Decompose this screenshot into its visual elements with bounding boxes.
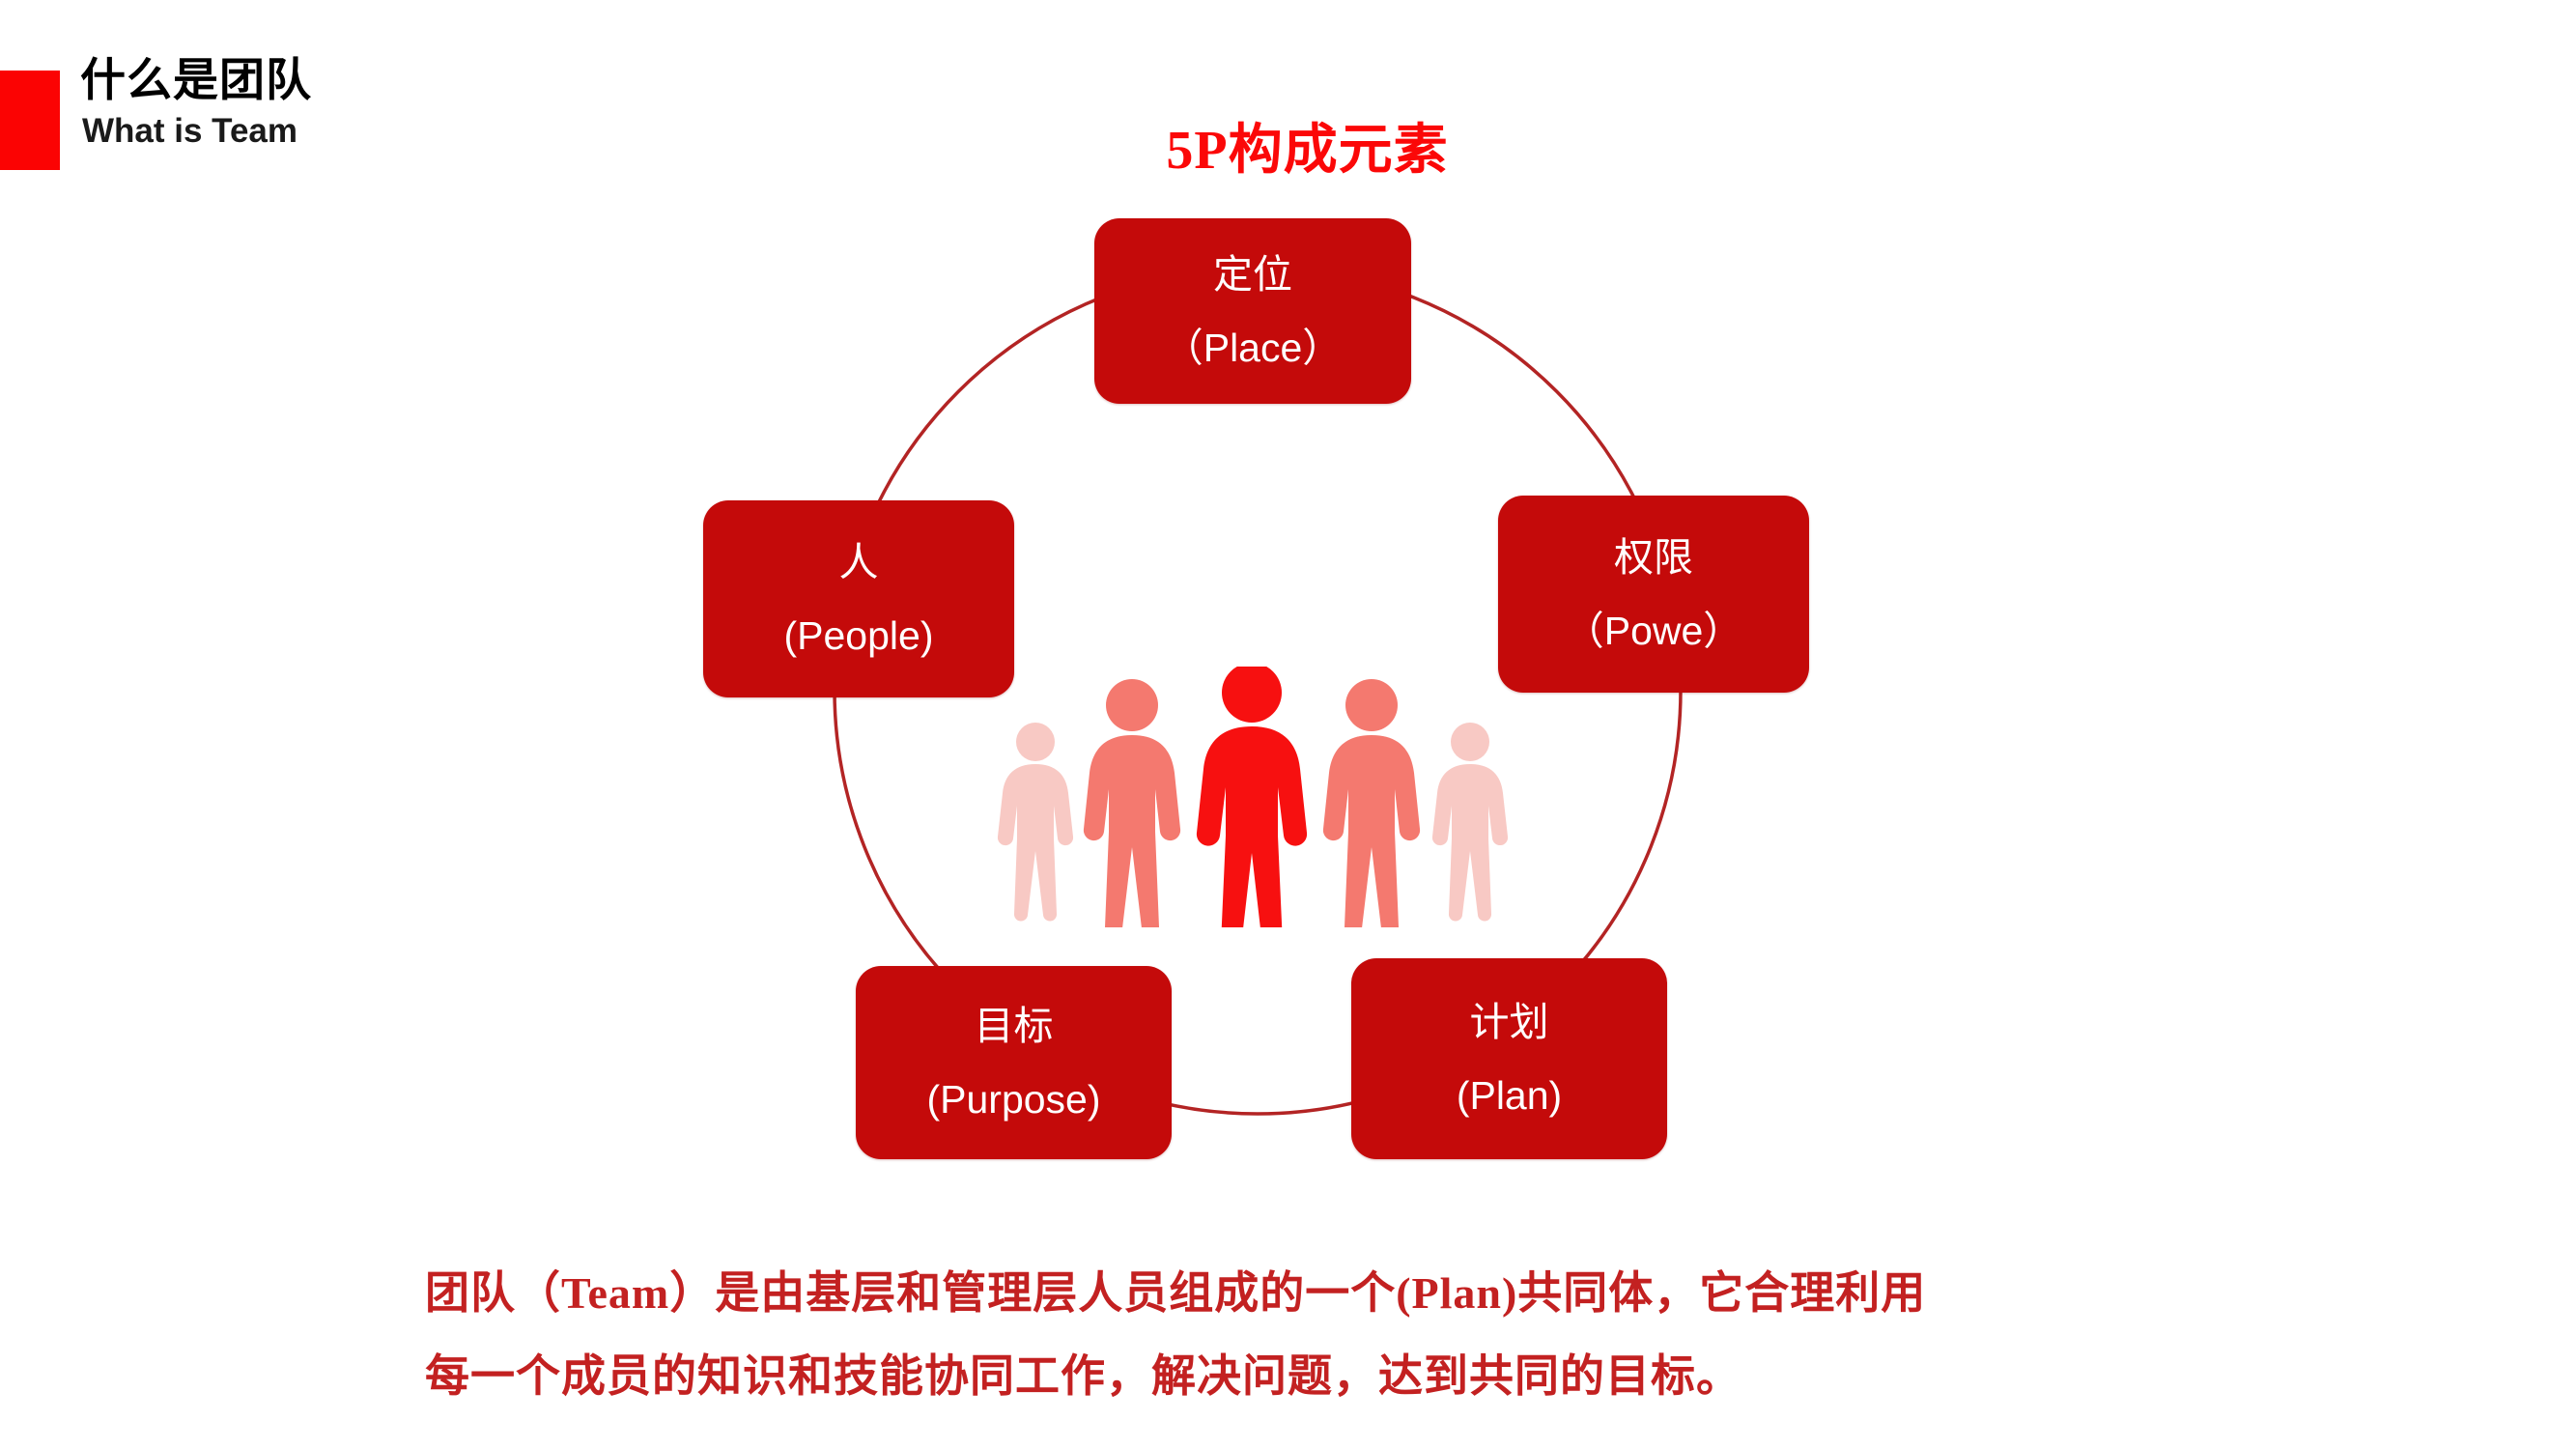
person-icon-5: [1432, 723, 1508, 922]
node-people-label-cn: 人: [839, 536, 879, 588]
node-purpose[interactable]: 目标 (Purpose): [856, 966, 1172, 1159]
node-power-label-cn: 权限: [1614, 531, 1693, 583]
caption-line-2: 每一个成员的知识和技能协同工作，解决问题，达到共同的目标。: [425, 1335, 2260, 1418]
node-place-label-en: （Place）: [1164, 322, 1343, 374]
node-plan[interactable]: 计划 (Plan): [1351, 958, 1667, 1159]
node-plan-label-cn: 计划: [1470, 996, 1549, 1048]
node-people[interactable]: 人 (People): [703, 500, 1014, 697]
node-place[interactable]: 定位 （Place）: [1094, 218, 1411, 404]
person-icon-3: [1197, 667, 1307, 927]
node-plan-label-en: (Plan): [1457, 1069, 1562, 1122]
person-icon-1: [998, 723, 1073, 922]
node-purpose-label-cn: 目标: [975, 1000, 1054, 1052]
node-purpose-label-en: (Purpose): [926, 1073, 1100, 1125]
people-group-icon: [995, 667, 1521, 927]
person-icon-4: [1323, 679, 1420, 927]
cycle-ring-icon: [0, 0, 2576, 1217]
node-place-label-cn: 定位: [1213, 248, 1292, 300]
node-people-label-en: (People): [784, 610, 934, 662]
five-p-diagram: 定位 （Place） 权限 （Powe） 计划 (Plan) 目标 (Purpo…: [0, 0, 2576, 1217]
person-icon-2: [1084, 679, 1180, 927]
caption-block: 团队（Team）是由基层和管理层人员组成的一个(Plan)共同体，它合理利用 每…: [425, 1252, 2260, 1418]
node-power[interactable]: 权限 （Powe）: [1498, 496, 1809, 693]
node-power-label-en: （Powe）: [1565, 605, 1743, 657]
caption-line-1: 团队（Team）是由基层和管理层人员组成的一个(Plan)共同体，它合理利用: [425, 1252, 2260, 1335]
